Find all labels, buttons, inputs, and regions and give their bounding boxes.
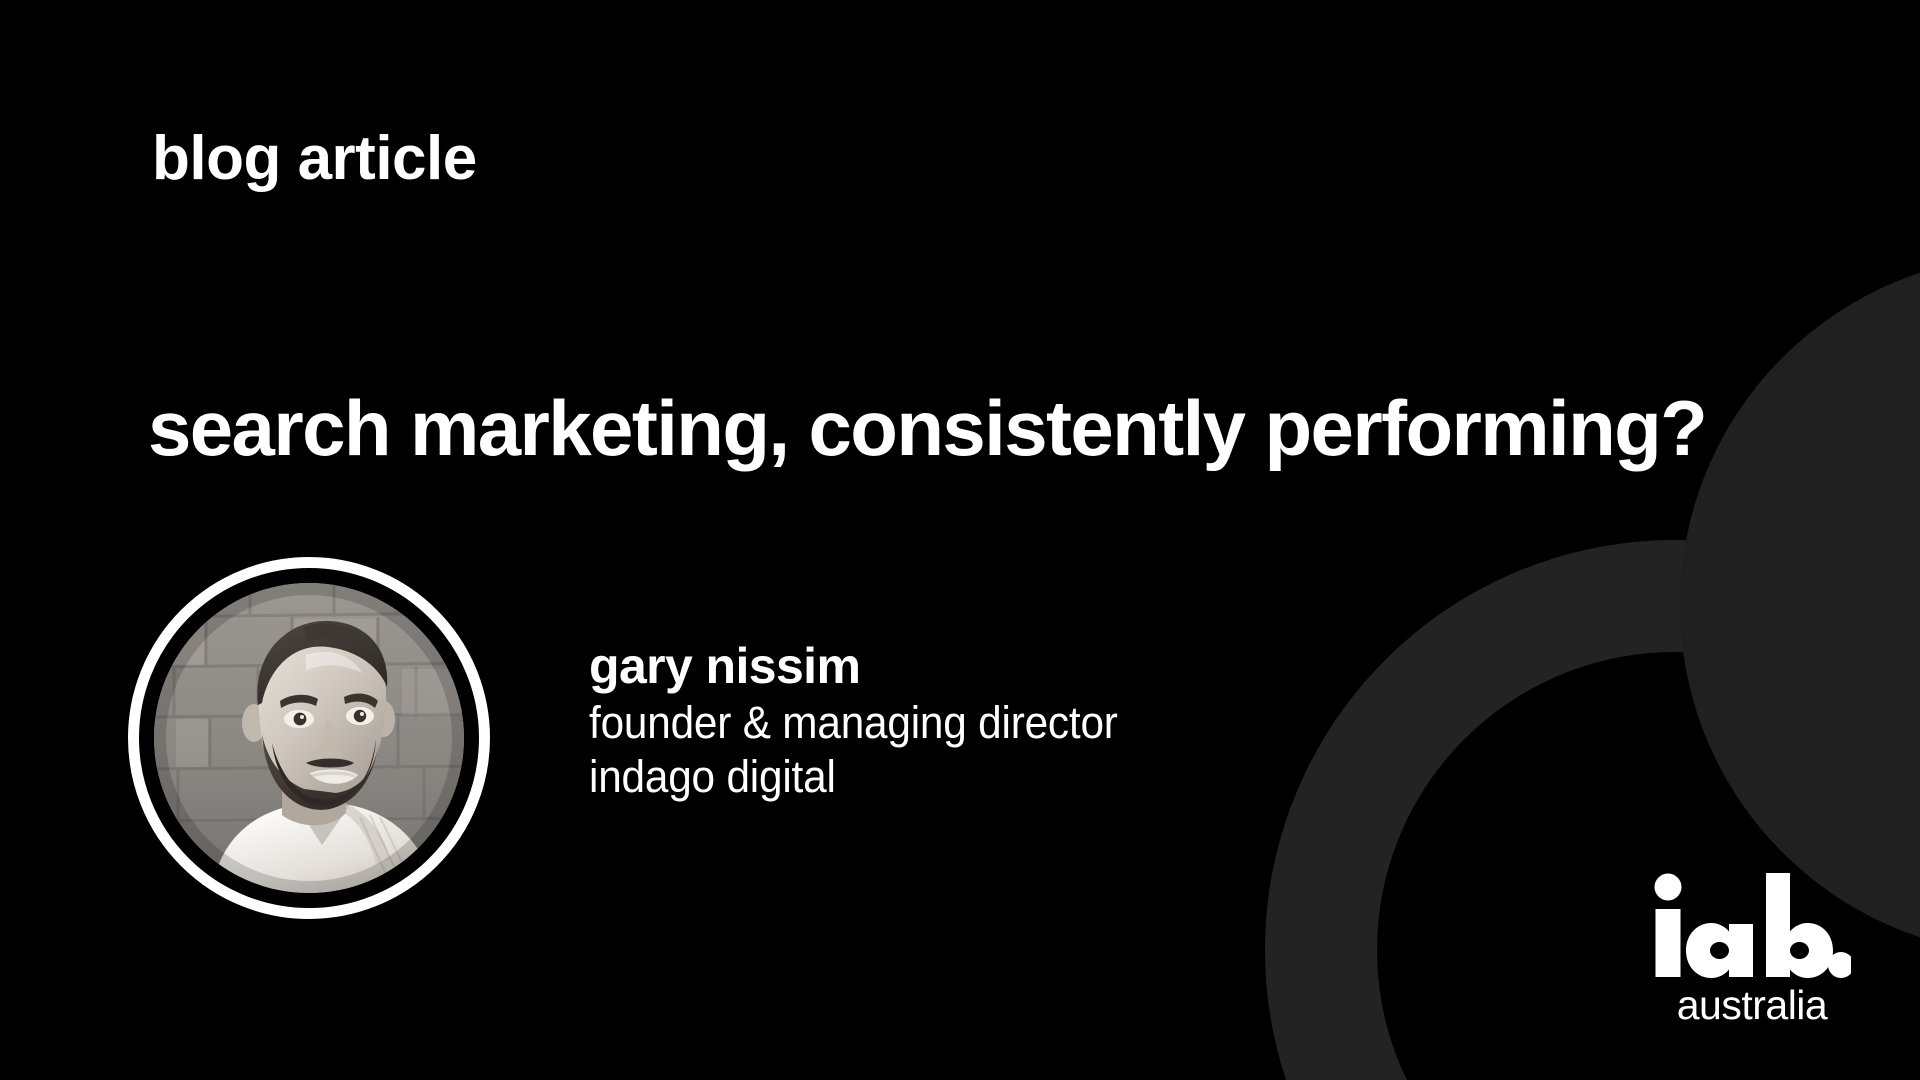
author-avatar bbox=[128, 557, 490, 919]
author-organisation: indago digital bbox=[589, 750, 1118, 804]
background-circle-shape bbox=[1680, 255, 1920, 955]
avatar-ring-border bbox=[128, 557, 490, 919]
blog-article-card: blog article search marketing, consisten… bbox=[0, 0, 1920, 1080]
author-name: gary nissim bbox=[589, 638, 1151, 694]
author-byline: gary nissim founder & managing director … bbox=[589, 638, 1151, 804]
content-type-label: blog article bbox=[152, 125, 477, 193]
svg-text:australia: australia bbox=[1677, 982, 1828, 1025]
author-role: founder & managing director bbox=[589, 696, 1118, 750]
article-headline: search marketing, consistently performin… bbox=[148, 386, 1828, 470]
iab-australia-logo-icon: australia bbox=[1651, 873, 1851, 1025]
